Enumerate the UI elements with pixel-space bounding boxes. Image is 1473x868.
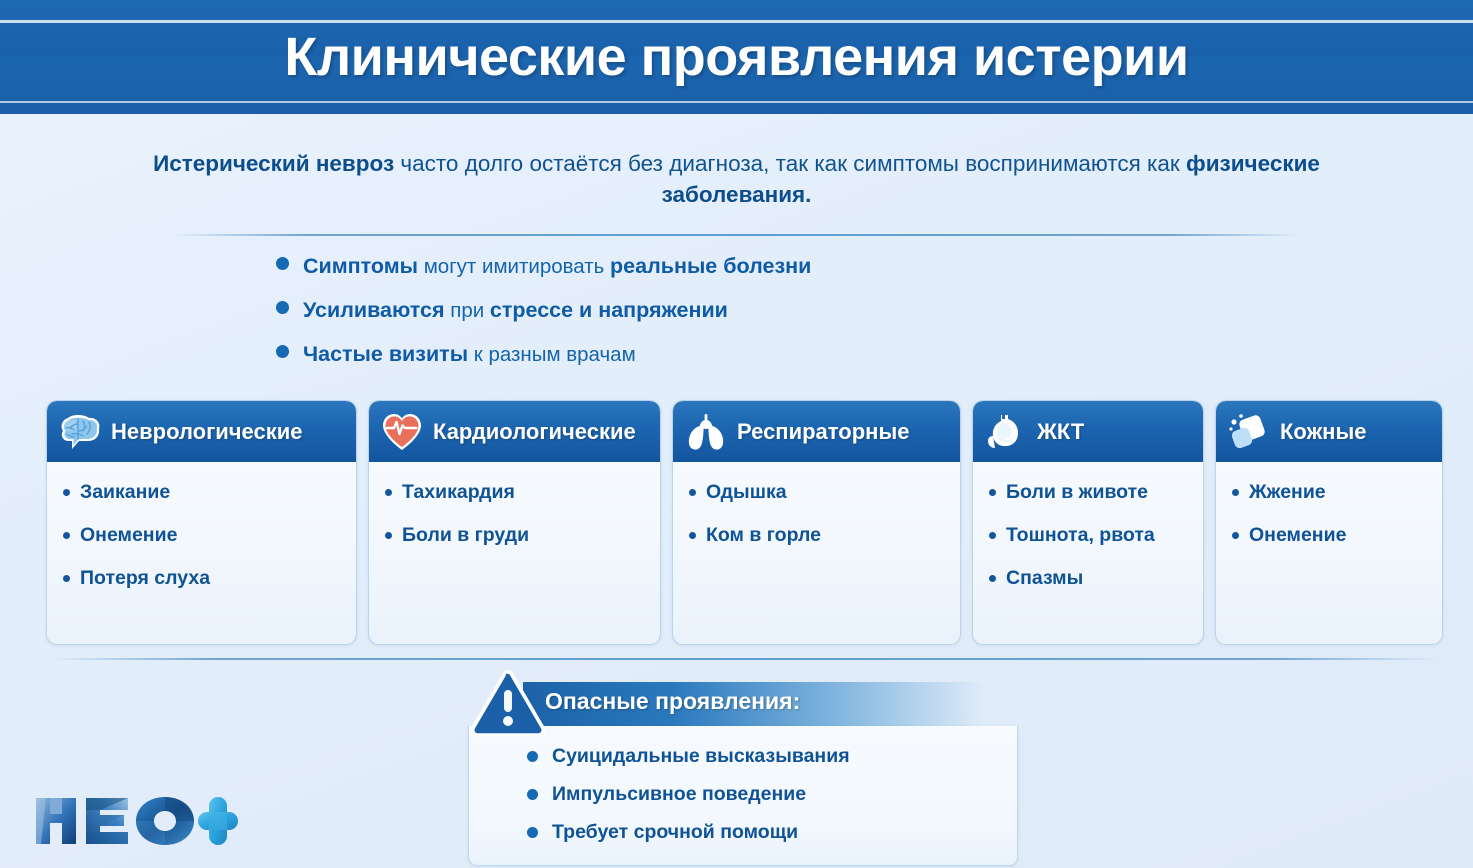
symptom-category-cards: Неврологические Заикание Онемение Потеря… [46, 400, 1436, 645]
danger-item-label: Импульсивное поведение [552, 782, 806, 806]
card-body: Тахикардия Боли в груди [369, 462, 660, 644]
danger-callout-body: Суицидальные высказывания Импульсивное п… [468, 726, 1018, 866]
brand-logo: НЕО+ [24, 790, 264, 852]
bullet-dot-icon [63, 489, 70, 496]
bullet-dot-icon [527, 789, 538, 800]
card-list-item: Ком в горле [689, 523, 948, 548]
intro-lead: Истерический невроз [153, 151, 394, 176]
bullet-dot-icon [63, 575, 70, 582]
card-neurological: Неврологические Заикание Онемение Потеря… [46, 400, 357, 645]
bullet-dot-icon [276, 345, 289, 358]
key-point-text: Симптомы могут имитировать реальные боле… [303, 254, 811, 279]
bullet-dot-icon [276, 257, 289, 270]
intro-paragraph: Истерический невроз часто долго остаётся… [140, 148, 1333, 210]
key-point-bold-a: Частые визиты [303, 342, 468, 366]
card-list-item: Заикание [63, 480, 344, 505]
bullet-dot-icon [385, 532, 392, 539]
danger-list-item: Суицидальные высказывания [527, 744, 1017, 768]
divider-top [172, 234, 1302, 236]
card-list-item: Тошнота, рвота [989, 523, 1191, 548]
danger-item-label: Суицидальные высказывания [552, 744, 850, 768]
card-item-label: Тошнота, рвота [1006, 523, 1155, 548]
card-header: Кожные [1216, 401, 1442, 462]
key-point-row: Усиливаются при стрессе и напряжении [276, 298, 1176, 342]
card-item-label: Ком в горле [706, 523, 821, 548]
key-point-bold-b: стрессе и напряжении [490, 298, 728, 322]
card-title: Неврологические [111, 419, 303, 445]
card-list-item: Жжение [1232, 480, 1430, 505]
card-title: Кожные [1280, 419, 1367, 445]
card-item-label: Заикание [80, 480, 170, 505]
card-title: Кардиологические [433, 419, 636, 445]
key-point-bold-b: реальные болезни [610, 254, 811, 278]
warning-triangle-icon [465, 668, 551, 740]
card-list-item: Боли в груди [385, 523, 648, 548]
header-rule-top [0, 20, 1473, 23]
brain-icon [57, 410, 103, 454]
card-item-label: Боли в животе [1006, 480, 1148, 505]
card-list-item: Тахикардия [385, 480, 648, 505]
card-item-label: Боли в груди [402, 523, 529, 548]
bullet-dot-icon [1232, 532, 1239, 539]
card-item-label: Одышка [706, 480, 787, 505]
intro-middle: часто долго остаётся без диагноза, так к… [394, 151, 1186, 176]
key-point-plain: могут имитировать [418, 255, 610, 278]
lungs-icon [683, 410, 729, 454]
bullet-dot-icon [527, 751, 538, 762]
key-points-list: Симптомы могут имитировать реальные боле… [276, 254, 1176, 386]
heart-pulse-icon [379, 410, 425, 454]
card-list-item: Онемение [63, 523, 344, 548]
logo-text: НЕО+ [24, 850, 25, 851]
key-point-plain: к разным врачам [468, 343, 636, 366]
card-dermatological: Кожные Жжение Онемение [1215, 400, 1443, 645]
key-point-plain: при [445, 299, 490, 322]
card-item-label: Спазмы [1006, 566, 1083, 591]
bullet-dot-icon [276, 301, 289, 314]
card-header: ЖКТ [973, 401, 1203, 462]
danger-list-item: Требует срочной помощи [527, 820, 1017, 844]
key-point-text: Частые визиты к разным врачам [303, 342, 636, 367]
bullet-dot-icon [689, 489, 696, 496]
bullet-dot-icon [1232, 489, 1239, 496]
stomach-icon [983, 410, 1029, 454]
bullet-dot-icon [989, 489, 996, 496]
card-respiratory: Респираторные Одышка Ком в горле [672, 400, 961, 645]
bullet-dot-icon [689, 532, 696, 539]
key-point-text: Усиливаются при стрессе и напряжении [303, 298, 728, 323]
card-cardiological: Кардиологические Тахикардия Боли в груди [368, 400, 661, 645]
bullet-dot-icon [527, 827, 538, 838]
page-title: Клинические проявления истерии [0, 26, 1473, 88]
key-point-row: Симптомы могут имитировать реальные боле… [276, 254, 1176, 298]
card-list-item: Одышка [689, 480, 948, 505]
card-item-label: Потеря слуха [80, 566, 210, 591]
bullet-dot-icon [63, 532, 70, 539]
bullet-dot-icon [385, 489, 392, 496]
card-list-item: Спазмы [989, 566, 1191, 591]
card-body: Боли в животе Тошнота, рвота Спазмы [973, 462, 1203, 644]
card-header: Неврологические [47, 401, 356, 462]
card-gastrointestinal: ЖКТ Боли в животе Тошнота, рвота Спазмы [972, 400, 1204, 645]
danger-list-item: Импульсивное поведение [527, 782, 1017, 806]
card-item-label: Онемение [80, 523, 177, 548]
key-point-bold-a: Симптомы [303, 254, 418, 278]
key-point-bold-a: Усиливаются [303, 298, 445, 322]
page-header-bar: Клинические проявления истерии [0, 0, 1473, 114]
card-header: Респираторные [673, 401, 960, 462]
skin-patch-icon [1226, 410, 1272, 454]
card-title: ЖКТ [1037, 419, 1084, 445]
card-body: Заикание Онемение Потеря слуха [47, 462, 356, 644]
card-body: Одышка Ком в горле [673, 462, 960, 644]
card-list-item: Онемение [1232, 523, 1430, 548]
card-list-item: Потеря слуха [63, 566, 344, 591]
card-title: Респираторные [737, 419, 909, 445]
danger-callout: Опасные проявления: Суицидальные высказы… [465, 668, 1025, 868]
card-body: Жжение Онемение [1216, 462, 1442, 644]
divider-bottom [48, 658, 1438, 660]
header-rule-bottom [0, 101, 1473, 103]
card-list-item: Боли в животе [989, 480, 1191, 505]
danger-callout-title: Опасные проявления: [545, 688, 800, 715]
card-item-label: Жжение [1249, 480, 1326, 505]
bullet-dot-icon [989, 575, 996, 582]
card-item-label: Онемение [1249, 523, 1346, 548]
danger-item-label: Требует срочной помощи [552, 820, 798, 844]
key-point-row: Частые визиты к разным врачам [276, 342, 1176, 386]
card-item-label: Тахикардия [402, 480, 515, 505]
card-header: Кардиологические [369, 401, 660, 462]
bullet-dot-icon [989, 532, 996, 539]
